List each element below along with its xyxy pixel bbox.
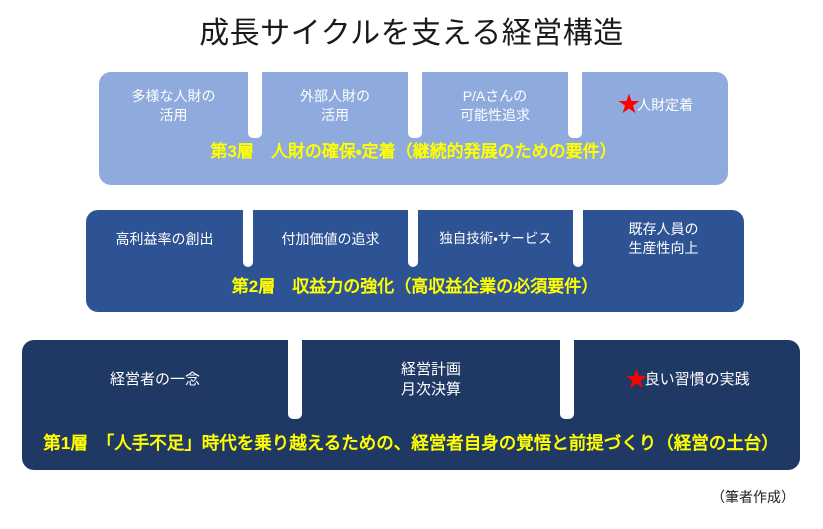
layer-3-tab-1[interactable]: 多様な人財の 活用: [99, 72, 248, 139]
layer-2-tab-1-inner: 高利益率の創出: [116, 230, 214, 249]
layer-2-notch-3: [573, 209, 583, 267]
layer-3-tab-2-label: 外部人財の 活用: [300, 87, 370, 125]
layer-1-tab-2-inner: 経営計画 月次決算: [401, 360, 461, 401]
layer-2-tab-3-inner: 独自技術・サービス: [439, 230, 552, 248]
layer-2-tab-4[interactable]: 既存人員の 生産性向上: [583, 210, 744, 268]
layer-3-tab-1-inner: 多様な人財の 活用: [132, 87, 216, 125]
layer-1-tab-3-inner: ★ 良い習慣の実践: [624, 367, 749, 394]
layer-2-group: 高利益率の創出 付加価値の追求 独自技術・サービス 既存人員の 生産性向上 第2…: [86, 210, 744, 312]
layer-1-group: 経営者の一念 経営計画 月次決算 ★ 良い習慣の実践 第1層 「人手不足」時代を…: [22, 340, 800, 470]
layer-3-tab-3-label: P/Aさんの 可能性追求: [460, 87, 530, 125]
layer-1-notch-2: [560, 339, 574, 419]
layer-2-tab-2[interactable]: 付加価値の追求: [253, 210, 408, 268]
layer-2-notch-1: [243, 209, 253, 267]
layer-2-tab-1-label: 高利益率の創出: [116, 230, 214, 249]
layer-2-tab-3[interactable]: 独自技術・サービス: [418, 210, 573, 268]
layer-3-tab-4-inner: ★ 人財定着: [617, 92, 693, 119]
layer-3-banner: 第3層 人財の確保・定着（継続的発展のための要件）: [99, 137, 728, 162]
page-title: 成長サイクルを支える経営構造: [0, 8, 823, 52]
layer-1-tab-1-label: 経営者の一念: [110, 370, 200, 390]
star-icon: ★: [624, 366, 648, 393]
layer-3-group: 多様な人財の 活用 外部人財の 活用 P/Aさんの 可能性追求 ★ 人財定着 第…: [99, 72, 728, 185]
star-icon: ★: [617, 91, 641, 118]
layer-3-notch-1: [248, 71, 262, 138]
layer-1-tab-2-label: 経営計画 月次決算: [401, 360, 461, 401]
source-note: （筆者作成）: [711, 487, 795, 507]
layer-3-tab-1-label: 多様な人財の 活用: [132, 87, 216, 125]
layer-1-banner: 第1層 「人手不足」時代を乗り越えるための、経営者自身の覚悟と前提づくり（経営の…: [22, 430, 800, 455]
layer-2-tab-4-label: 既存人員の 生産性向上: [629, 220, 699, 258]
layer-3-tab-2[interactable]: 外部人財の 活用: [262, 72, 408, 139]
layer-3-tab-4[interactable]: ★ 人財定着: [582, 72, 728, 139]
layer-3-tab-4-label: 人財定着: [637, 96, 693, 115]
layer-3-tab-2-inner: 外部人財の 活用: [300, 87, 370, 125]
layer-2-tab-1[interactable]: 高利益率の創出: [86, 210, 243, 268]
layer-1-tab-3[interactable]: ★ 良い習慣の実践: [574, 340, 800, 420]
layer-1-tab-1[interactable]: 経営者の一念: [22, 340, 288, 420]
layer-3-notch-2: [408, 71, 422, 138]
layer-1-tab-1-inner: 経営者の一念: [110, 370, 200, 390]
layer-2-tab-3-label: 独自技術・サービス: [439, 230, 552, 248]
layer-3-tab-3-inner: P/Aさんの 可能性追求: [460, 87, 530, 125]
layer-2-tab-2-label: 付加価値の追求: [282, 230, 380, 249]
layer-3-tab-3[interactable]: P/Aさんの 可能性追求: [422, 72, 568, 139]
layer-1-tab-2[interactable]: 経営計画 月次決算: [302, 340, 560, 420]
diagram-canvas: 成長サイクルを支える経営構造 多様な人財の 活用 外部人財の 活用 P/Aさんの…: [0, 0, 823, 529]
layer-2-tab-2-inner: 付加価値の追求: [282, 230, 380, 249]
layer-2-notch-2: [408, 209, 418, 267]
layer-2-banner: 第2層 収益力の強化（高収益企業の必須要件）: [86, 272, 744, 297]
layer-3-notch-3: [568, 71, 582, 138]
layer-2-tab-4-inner: 既存人員の 生産性向上: [629, 220, 699, 258]
layer-1-notch-1: [288, 339, 302, 419]
layer-1-tab-3-label: 良い習慣の実践: [645, 370, 750, 390]
